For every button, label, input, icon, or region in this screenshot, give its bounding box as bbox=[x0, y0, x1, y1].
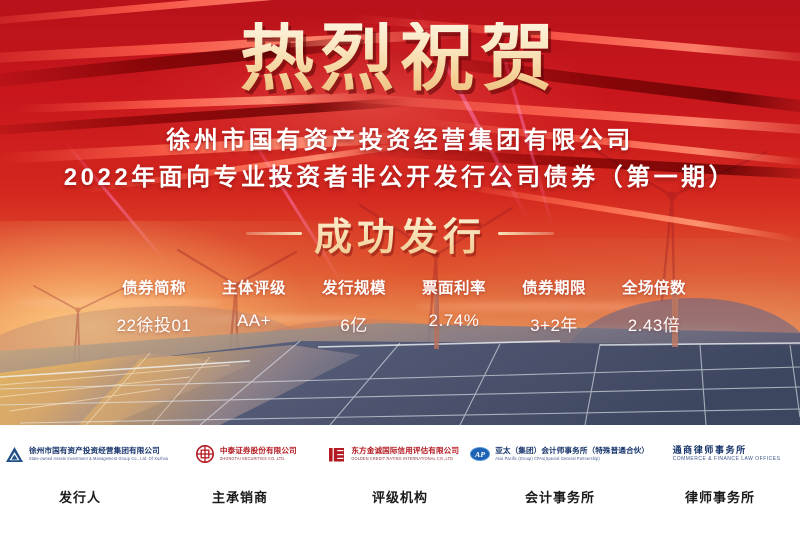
svg-text:AP: AP bbox=[474, 450, 485, 459]
stat-column-bond-term: 债券期限 3+2年 bbox=[504, 276, 604, 336]
stat-column-issue-size: 发行规模 6亿 bbox=[304, 276, 404, 336]
role-label-underwriter: 主承销商 bbox=[160, 487, 320, 506]
partner-name-cn: 东方金诚国际信用评估有限公司 bbox=[351, 447, 459, 455]
banner-rule-left-icon bbox=[246, 232, 302, 235]
golden-credit-book-logo-icon bbox=[326, 444, 346, 464]
blue-triangle-logo-icon bbox=[4, 444, 24, 464]
partner-footer: 徐州市国有资产投资经营集团有限公司 State-owned Assets Inv… bbox=[0, 425, 800, 534]
partner-name-cn: 亚太（集团）会计师事务所（特殊普通合伙） bbox=[495, 447, 649, 455]
partner-name-en: State-owned Assets Investment & Manageme… bbox=[29, 457, 168, 461]
stat-column-subscription-multiple: 全场倍数 2.43倍 bbox=[604, 276, 704, 336]
partner-name-en: GOLDEN CREDIT RATING INTERNATIONAL CO.,L… bbox=[351, 457, 459, 461]
stat-value: 2.74% bbox=[404, 311, 504, 331]
headline-congratulations: 热烈祝贺 bbox=[0, 22, 800, 96]
partner-logo-issuer: 徐州市国有资产投资经营集团有限公司 State-owned Assets Inv… bbox=[0, 433, 172, 475]
stat-value: 3+2年 bbox=[504, 311, 604, 336]
success-banner: 成功发行 bbox=[0, 206, 800, 261]
partner-logo-text: 通商律师事务所 COMMERCE & FINANCE LAW OFFICES bbox=[673, 446, 781, 462]
zhongtai-circle-logo-icon bbox=[195, 444, 215, 464]
partner-logo-text: 徐州市国有资产投资经营集团有限公司 State-owned Assets Inv… bbox=[29, 447, 168, 461]
stat-header: 票面利率 bbox=[404, 276, 504, 298]
stat-value: 6亿 bbox=[304, 311, 404, 336]
role-label-issuer: 发行人 bbox=[0, 487, 160, 506]
stat-value: AA+ bbox=[204, 311, 304, 331]
stat-header: 债券期限 bbox=[504, 276, 604, 298]
celebration-poster: 热烈祝贺 徐州市国有资产投资经营集团有限公司 2022年面向专业投资者非公开发行… bbox=[0, 0, 800, 534]
success-banner-text: 成功发行 bbox=[314, 206, 486, 261]
stat-header: 债券简称 bbox=[104, 276, 204, 298]
stat-column-bond-abbr: 债券简称 22徐投01 bbox=[104, 276, 204, 336]
poster-content: 热烈祝贺 徐州市国有资产投资经营集团有限公司 2022年面向专业投资者非公开发行… bbox=[0, 0, 800, 425]
asia-pacific-ap-logo-icon: AP bbox=[470, 444, 490, 464]
bond-stats-table: 债券简称 22徐投01 主体评级 AA+ 发行规模 6亿 票面利率 2.74% … bbox=[104, 276, 704, 336]
partner-role-row: 发行人 主承销商 评级机构 会计事务所 律师事务所 bbox=[0, 487, 800, 506]
stat-value: 22徐投01 bbox=[104, 311, 204, 336]
partner-name-cn: 徐州市国有资产投资经营集团有限公司 bbox=[29, 447, 168, 455]
stat-header: 发行规模 bbox=[304, 276, 404, 298]
partner-logo-text: 亚太（集团）会计师事务所（特殊普通合伙） Asia Pacific (Group… bbox=[495, 447, 649, 461]
role-label-accounting-firm: 会计事务所 bbox=[480, 487, 640, 506]
stat-value: 2.43倍 bbox=[604, 311, 704, 336]
stat-column-issuer-rating: 主体评级 AA+ bbox=[204, 276, 304, 336]
partner-name-en: COMMERCE & FINANCE LAW OFFICES bbox=[673, 457, 781, 463]
partner-logo-accounting-firm: AP 亚太（集团）会计师事务所（特殊普通合伙） Asia Pacific (Gr… bbox=[466, 433, 653, 475]
partner-name-en: ZHONGTAI SECURITIES CO.,LTD. bbox=[220, 457, 297, 461]
partner-logo-underwriter: 中泰证券股份有限公司 ZHONGTAI SECURITIES CO.,LTD. bbox=[172, 433, 319, 475]
role-label-rating-agency: 评级机构 bbox=[320, 487, 480, 506]
partner-logo-law-firm: 通商律师事务所 COMMERCE & FINANCE LAW OFFICES bbox=[653, 433, 800, 475]
partner-logo-text: 中泰证券股份有限公司 ZHONGTAI SECURITIES CO.,LTD. bbox=[220, 447, 297, 461]
partner-logo-row: 徐州市国有资产投资经营集团有限公司 State-owned Assets Inv… bbox=[0, 433, 800, 475]
partner-name-cn: 中泰证券股份有限公司 bbox=[220, 447, 297, 455]
partner-name-en: Asia Pacific (Group) CPAs(Special Genera… bbox=[495, 457, 649, 461]
stat-header: 全场倍数 bbox=[604, 276, 704, 298]
banner-rule-right-icon bbox=[498, 232, 554, 235]
partner-logo-text: 东方金诚国际信用评估有限公司 GOLDEN CREDIT RATING INTE… bbox=[351, 447, 459, 461]
issuer-name-line: 徐州市国有资产投资经营集团有限公司 bbox=[0, 120, 800, 155]
role-label-law-firm: 律师事务所 bbox=[640, 487, 800, 506]
stat-column-coupon-rate: 票面利率 2.74% bbox=[404, 276, 504, 336]
partner-name-cn: 通商律师事务所 bbox=[673, 446, 781, 455]
stat-header: 主体评级 bbox=[204, 276, 304, 298]
partner-logo-rating-agency: 东方金诚国际信用评估有限公司 GOLDEN CREDIT RATING INTE… bbox=[319, 433, 466, 475]
bond-description-line: 2022年面向专业投资者非公开发行公司债券（第一期） bbox=[0, 157, 800, 192]
